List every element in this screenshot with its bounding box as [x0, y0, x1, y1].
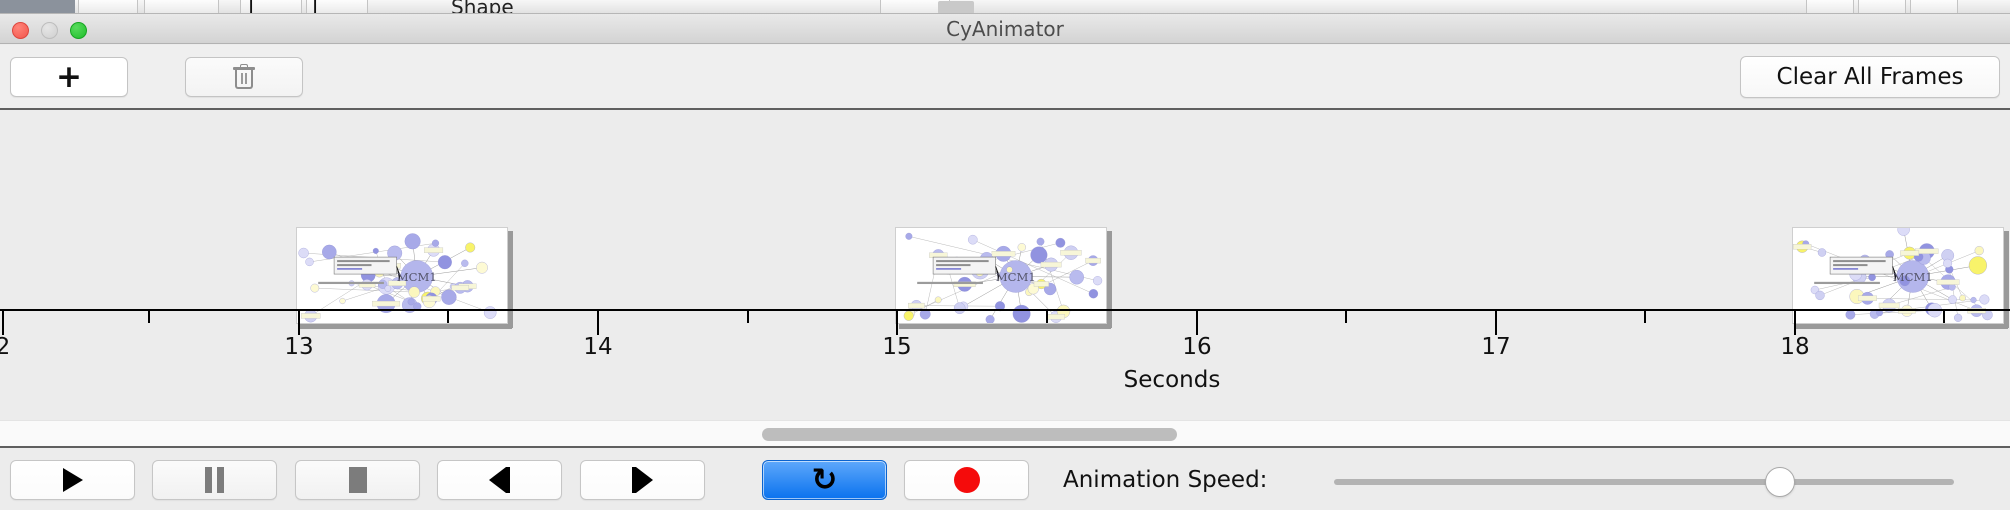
skip-to-end-button[interactable] [580, 460, 705, 500]
play-button[interactable] [10, 460, 135, 500]
record-button[interactable] [904, 460, 1029, 500]
frame-shadow [1796, 324, 2008, 329]
stop-icon [349, 467, 367, 493]
ruler-tick-label: 18 [1780, 334, 1809, 360]
timeline-axis-title: Seconds [1124, 367, 1221, 393]
ruler-tick-minor [747, 311, 749, 323]
frame-shadow [300, 324, 512, 329]
ruler-tick-major [2, 311, 4, 335]
playback-bar: ↻ Animation Speed: [0, 450, 2010, 510]
stop-button[interactable] [295, 460, 420, 500]
clear-all-frames-button[interactable]: Clear All Frames [1740, 56, 2000, 98]
window-title: CyAnimator [0, 14, 2010, 44]
ruler-tick-minor [148, 311, 150, 323]
ruler-tick-minor [1644, 311, 1646, 323]
slider-track[interactable] [1334, 479, 1954, 485]
ruler-tick-major [597, 311, 599, 335]
background-window-strip: | | Shape [0, 0, 2010, 14]
ruler-tick-major [896, 311, 898, 335]
ruler-tick-major [1196, 311, 1198, 335]
svg-text:MCM1: MCM1 [397, 270, 437, 284]
timeline-panel[interactable]: MCM1 MCM1 MCM1 [0, 112, 2010, 420]
svg-text:MCM1: MCM1 [996, 270, 1036, 284]
ruler-tick-minor [1943, 311, 1945, 323]
ruler-tick-major [298, 311, 300, 335]
delete-frame-button[interactable] [185, 57, 303, 97]
loop-icon: ↻ [812, 465, 838, 496]
ruler-tick-label: 2 [0, 334, 10, 360]
ruler-tick-major [1794, 311, 1796, 335]
frame-edge-shadow [508, 231, 513, 328]
ruler-tick-label: 14 [583, 334, 612, 360]
frame-shadow [899, 324, 1111, 329]
play-icon [63, 468, 83, 492]
add-frame-button[interactable]: + [10, 57, 128, 97]
timeline-scrollbar[interactable] [0, 420, 2010, 448]
frame-edge-shadow [1107, 231, 1112, 328]
svg-text:MCM1: MCM1 [1893, 270, 1933, 284]
frame-edge-shadow [2004, 231, 2009, 328]
ruler-tick-minor [1046, 311, 1048, 323]
ruler-tick-label: 13 [284, 334, 313, 360]
cyanimator-window: | | Shape CyAnimator + Clear All Frames … [0, 0, 2010, 510]
loop-button[interactable]: ↻ [762, 460, 887, 500]
slider-knob[interactable] [1765, 467, 1795, 497]
timeline-scrollbar-thumb[interactable] [762, 428, 1177, 441]
ruler-tick-major [1495, 311, 1497, 335]
skip-back-icon [489, 467, 510, 493]
title-bar: CyAnimator [0, 14, 2010, 44]
skip-forward-icon [632, 467, 653, 493]
background-window-label: Shape [451, 0, 514, 14]
timeline-ruler [0, 309, 2010, 311]
skip-to-start-button[interactable] [437, 460, 562, 500]
record-icon [954, 467, 980, 493]
ruler-tick-label: 17 [1481, 334, 1510, 360]
trash-icon [233, 65, 255, 90]
animation-speed-slider[interactable] [1334, 479, 1954, 485]
animation-speed-label: Animation Speed: [1063, 460, 1267, 500]
pause-button[interactable] [152, 460, 277, 500]
clear-all-frames-label: Clear All Frames [1777, 64, 1964, 90]
ruler-tick-minor [447, 311, 449, 323]
ruler-tick-label: 16 [1182, 334, 1211, 360]
ruler-tick-label: 15 [882, 334, 911, 360]
pause-icon [205, 467, 224, 493]
ruler-tick-minor [1345, 311, 1347, 323]
background-window-tab [0, 0, 75, 14]
